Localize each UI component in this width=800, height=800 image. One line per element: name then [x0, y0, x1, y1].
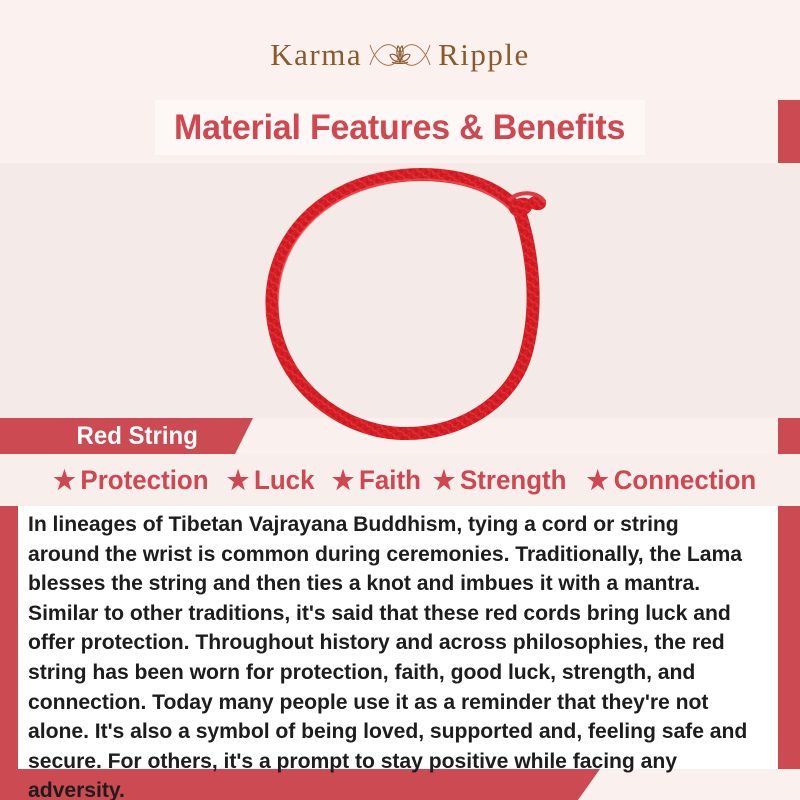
feature-label: Connection: [613, 465, 756, 496]
description-text: In lineages of Tibetan Vajrayana Buddhis…: [28, 510, 753, 800]
feature-item-protection: ★ Protection: [54, 465, 209, 496]
features-list: ★ Protection ★ Luck ★ Faith ★ Strength ★…: [40, 465, 759, 496]
lotus-flourish-icon: [368, 35, 432, 75]
feature-item-luck: ★ Luck: [227, 465, 315, 496]
material-label: Red String: [77, 422, 198, 451]
material-label-banner: Red String: [0, 418, 253, 454]
feature-label: Strength: [460, 465, 567, 496]
star-icon: ★: [54, 467, 76, 493]
title-banner: Material Features & Benefits: [155, 100, 645, 155]
brand-word-left: Karma: [270, 37, 362, 73]
feature-item-connection: ★ Connection: [586, 465, 756, 496]
star-icon: ★: [227, 467, 249, 493]
star-icon: ★: [331, 467, 353, 493]
feature-label: Faith: [359, 465, 421, 496]
brand-header: Karma Ripple: [0, 0, 800, 100]
star-icon: ★: [586, 467, 608, 493]
red-braided-string-bracelet: [248, 161, 578, 451]
brand-logo: Karma Ripple: [270, 35, 530, 75]
feature-item-faith: ★ Faith: [331, 465, 420, 496]
description-panel: In lineages of Tibetan Vajrayana Buddhis…: [18, 506, 778, 769]
star-icon: ★: [433, 467, 455, 493]
product-image-area: [0, 163, 800, 418]
infographic-page: Karma Ripple: [0, 0, 800, 800]
page-title: Material Features & Benefits: [174, 108, 625, 148]
feature-label: Luck: [254, 465, 315, 496]
features-strip: ★ Protection ★ Luck ★ Faith ★ Strength ★…: [0, 454, 800, 506]
brand-word-right: Ripple: [438, 37, 530, 73]
feature-item-strength: ★ Strength: [433, 465, 567, 496]
feature-label: Protection: [81, 465, 209, 496]
